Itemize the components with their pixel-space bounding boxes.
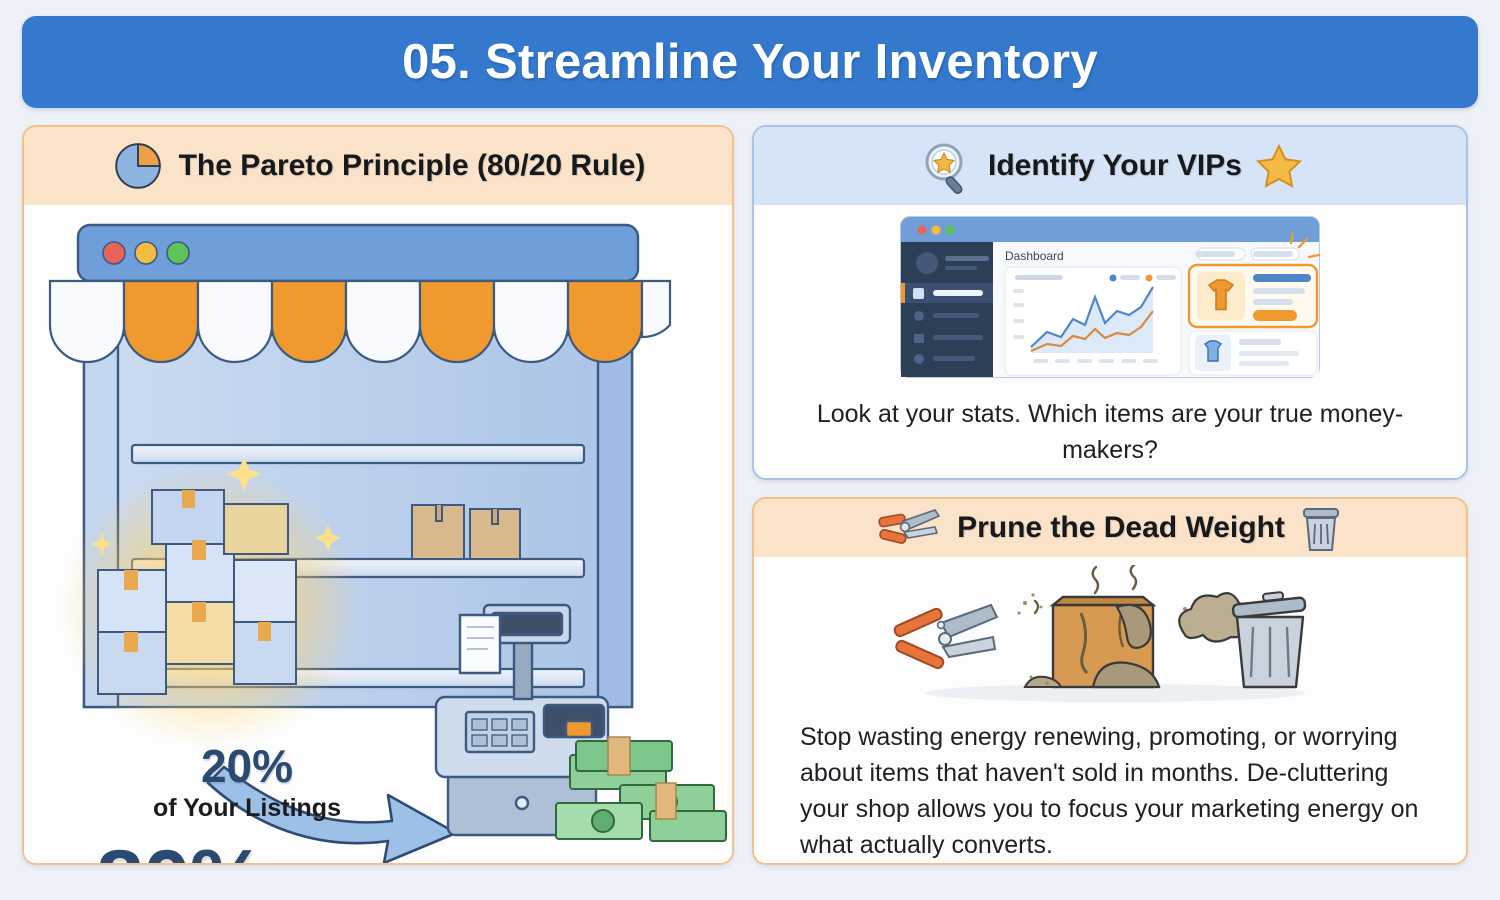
page-title-banner: 05. Streamline Your Inventory: [22, 16, 1478, 108]
pareto-illustration: 20% of Your Listings 80% 80% of your rev…: [24, 205, 732, 863]
panel-prune: Prune the Dead Weight: [752, 497, 1468, 865]
panel-grid: The Pareto Principle (80/20 Rule): [22, 125, 1478, 865]
panel-prune-body: Stop wasting energy renewing, promoting,…: [754, 557, 1466, 863]
panel-vips-title: Identify Your VIPs: [988, 149, 1242, 183]
panel-pareto-title: The Pareto Principle (80/20 Rule): [179, 149, 646, 183]
right-column: Identify Your VIPs: [752, 125, 1468, 865]
stat-revenue-value: 80%: [96, 841, 376, 865]
star-icon: [1256, 143, 1302, 189]
dashboard-window-title: Dashboard: [1005, 249, 1064, 263]
dead-weight-illustration: [885, 565, 1335, 705]
stat-listings-caption: of Your Listings: [142, 794, 352, 823]
panel-vips-caption: Look at your stats. Which items are your…: [800, 397, 1420, 468]
stat-revenue-headline: 80% 80% of your revenue probably comes f…: [96, 841, 376, 865]
panel-prune-caption: Stop wasting energy renewing, promoting,…: [800, 719, 1420, 863]
panel-prune-header: Prune the Dead Weight: [754, 499, 1466, 557]
infographic-page: 05. Streamline Your Inventory The Pareto…: [0, 0, 1500, 900]
dashboard-illustration: Dashboard: [895, 211, 1325, 381]
panel-pareto: The Pareto Principle (80/20 Rule): [22, 125, 734, 865]
storefront-illustration: [36, 207, 734, 865]
panel-vips-header: Identify Your VIPs: [754, 127, 1466, 205]
trash-can-icon: [1299, 503, 1343, 553]
page-title: 05. Streamline Your Inventory: [402, 34, 1098, 90]
stat-listings-value: 20%: [142, 743, 352, 789]
panel-prune-title: Prune the Dead Weight: [957, 511, 1285, 545]
pie-chart-icon: [111, 139, 165, 193]
panel-pareto-header: The Pareto Principle (80/20 Rule): [24, 127, 732, 205]
left-column: The Pareto Principle (80/20 Rule): [22, 125, 734, 865]
magnifier-star-icon: [918, 138, 974, 194]
panel-pareto-body: 20% of Your Listings 80% 80% of your rev…: [24, 205, 732, 863]
panel-vips: Identify Your VIPs: [752, 125, 1468, 480]
stat-listings: 20% of Your Listings: [142, 743, 352, 823]
panel-vips-body: Dashboard: [754, 205, 1466, 478]
pruning-shears-icon: [877, 502, 943, 554]
